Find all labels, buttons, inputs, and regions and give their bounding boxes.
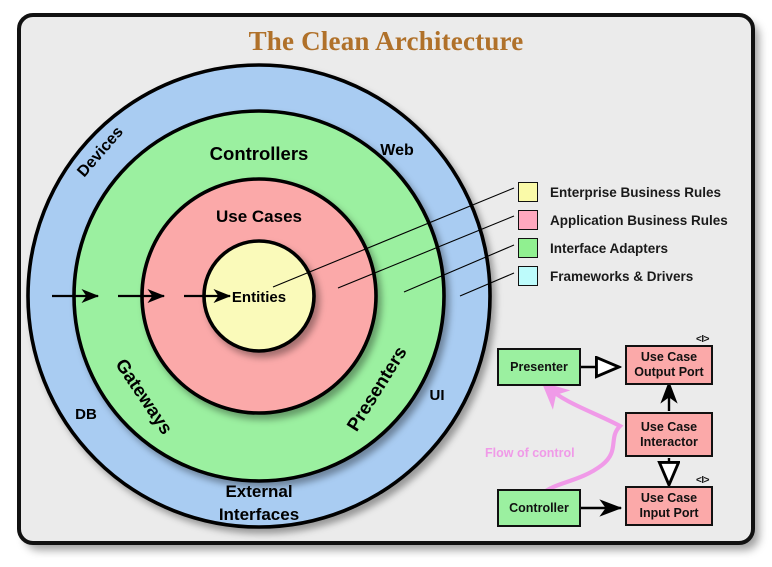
ring-label-external-interfaces-line2: Interfaces [219,505,299,524]
legend-item: Application Business Rules [518,206,754,234]
flow-of-control-diagram: Use Case Input Port (dependency, solid h… [480,330,755,540]
color-swatch-icon [518,266,538,286]
flow-box-use-case-interactor[interactable]: Use Case Interactor [625,412,713,457]
legend-item-label: Interface Adapters [550,241,668,256]
color-swatch-icon [518,210,538,230]
flow-box-input-port-label-line1: Use Case [641,491,697,505]
flow-box-output-port-label-line2: Output Port [634,365,703,379]
ring-label-web: Web [380,142,414,159]
flow-box-use-case-input-port[interactable]: <I> Use Case Input Port [625,486,713,526]
color-swatch-icon [518,238,538,258]
legend-item-label: Application Business Rules [550,213,728,228]
flow-box-controller-label: Controller [509,501,569,516]
legend-item: Interface Adapters [518,234,754,262]
flow-box-interactor-label-line2: Interactor [640,435,698,449]
flow-box-controller[interactable]: Controller [497,489,581,527]
ring-label-db: DB [75,406,97,423]
ring-label-use-cases: Use Cases [216,207,302,226]
interface-marker-icon: <I> [696,476,709,486]
interface-marker-icon: <I> [696,335,709,345]
flow-box-input-port-label-line2: Input Port [639,506,698,520]
ring-label-external-interfaces-line1: External [225,482,292,501]
legend-item-label: Enterprise Business Rules [550,185,721,200]
flow-of-control-caption: Flow of control [485,446,575,460]
flow-box-presenter[interactable]: Presenter [497,348,581,386]
ring-label-ui: UI [430,387,445,404]
ring-label-controllers: Controllers [210,143,309,164]
legend-item: Enterprise Business Rules [518,178,754,206]
flow-box-interactor-label-line1: Use Case [641,420,697,434]
legend: Enterprise Business Rules Application Bu… [518,178,754,290]
flow-of-control-curve [542,386,620,494]
flow-box-output-port-label-line1: Use Case [641,350,697,364]
flow-box-presenter-label: Presenter [510,360,568,375]
color-swatch-icon [518,182,538,202]
flow-box-use-case-output-port[interactable]: <I> Use Case Output Port [625,345,713,385]
legend-item: Frameworks & Drivers [518,262,754,290]
diagram-canvas: The Clean Architecture [0,0,772,567]
ring-label-entities: Entities [232,289,286,306]
legend-item-label: Frameworks & Drivers [550,269,693,284]
